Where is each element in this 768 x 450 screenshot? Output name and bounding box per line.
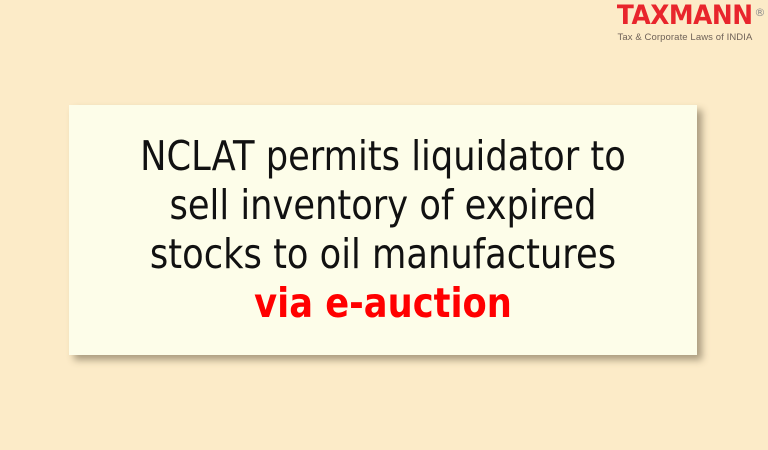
taxmann-wordmark: TAXMANN ® [617, 5, 753, 27]
taxmann-tagline: Tax & Corporate Laws of INDIA [610, 33, 760, 43]
headline-line-3: stocks to oil manufactures [113, 230, 653, 279]
headline-card: NCLAT permits liquidator to sell invento… [69, 105, 697, 355]
headline-line-2: sell inventory of expired [113, 181, 653, 230]
registered-trademark-icon: ® [755, 2, 766, 24]
headline-line-4-accent: via e-auction [113, 279, 653, 328]
taxmann-logo: TAXMANN ® Tax & Corporate Laws of INDIA [610, 5, 760, 43]
taxmann-wordmark-text: TAXMANN [617, 0, 753, 31]
headline-text: NCLAT permits liquidator to sell invento… [113, 132, 653, 328]
headline-line-1: NCLAT permits liquidator to [113, 132, 653, 181]
